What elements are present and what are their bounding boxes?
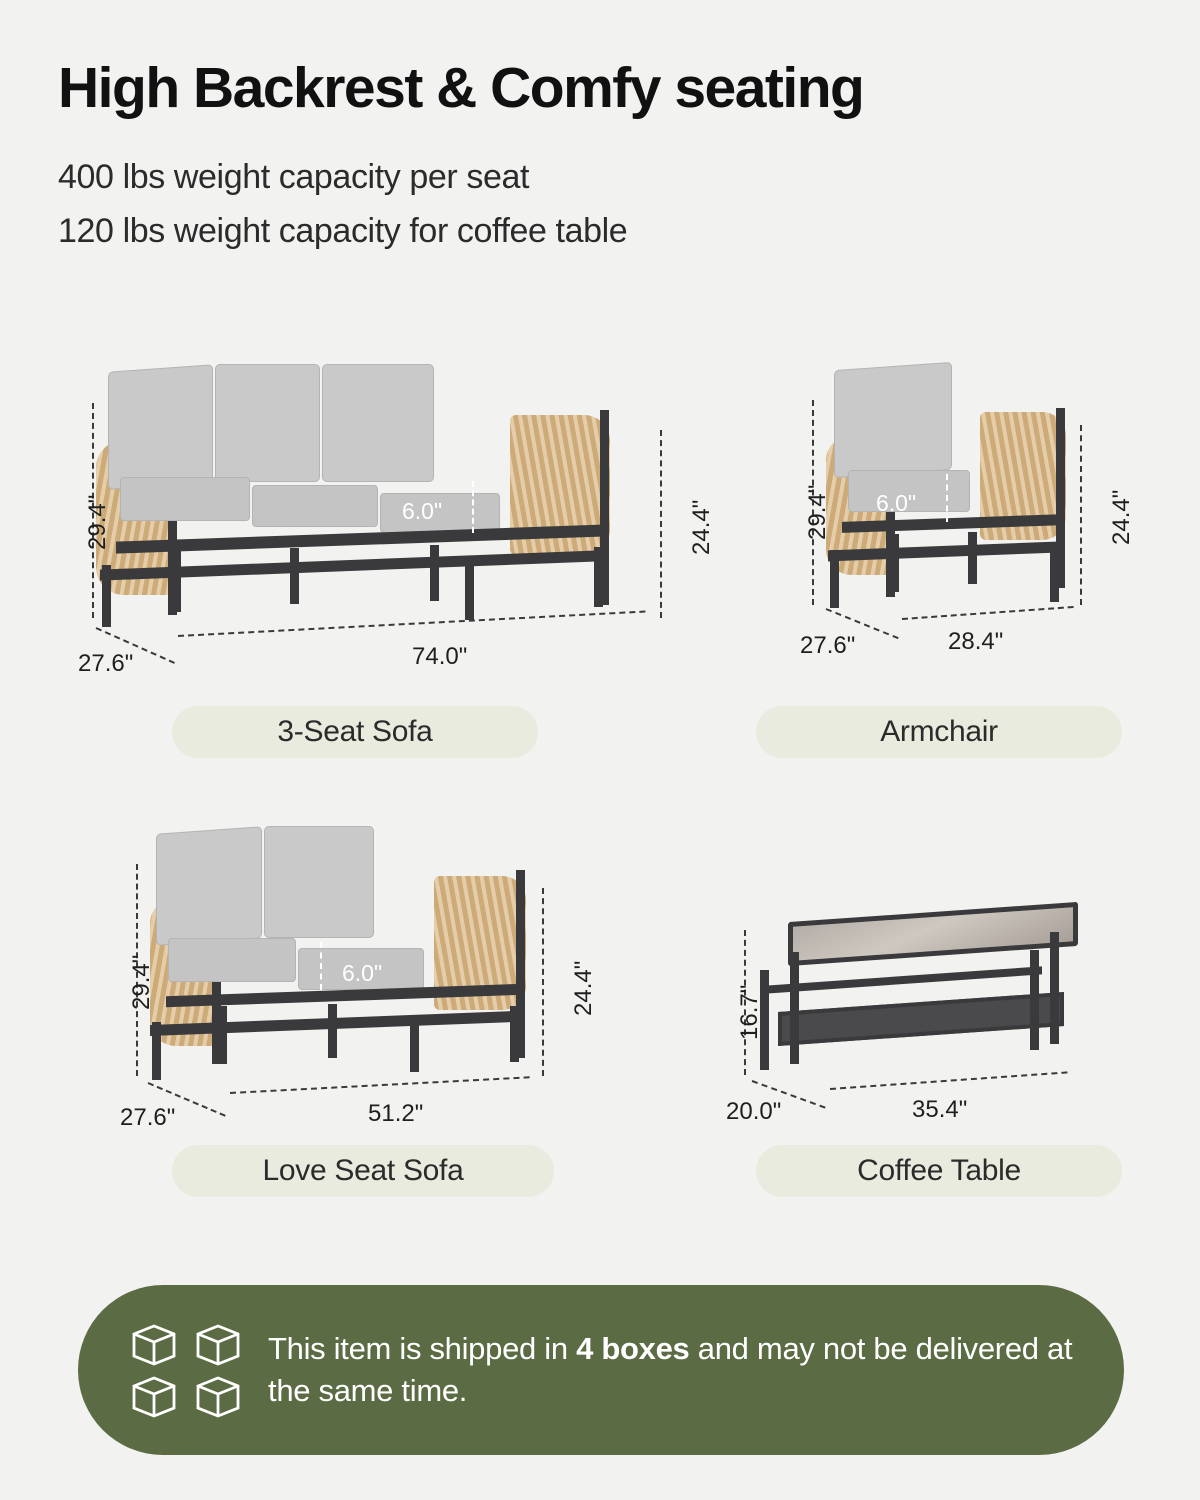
leg-6 (594, 547, 603, 607)
package-box-icon (130, 1374, 178, 1418)
shipping-banner: This item is shipped in 4 boxes and may … (78, 1285, 1124, 1455)
dim-cushion-label: 6.0" (876, 490, 916, 517)
dim-cushion-label: 6.0" (402, 498, 442, 525)
product-figure-love-seat-sofa: 29.4" 24.4" 6.0" 27.6" 51.2" (110, 820, 590, 1150)
leg-4 (410, 1016, 419, 1072)
label-love-seat-sofa: Love Seat Sofa (172, 1145, 554, 1197)
package-box-icon (194, 1374, 242, 1418)
dim-seat-height-label: 24.4" (570, 961, 598, 1016)
dim-width-label: 28.4" (948, 628, 1003, 656)
package-box-icon (194, 1322, 242, 1366)
label-3-seat-sofa: 3-Seat Sofa (172, 706, 538, 758)
label-armchair: Armchair (756, 706, 1122, 758)
leg-3 (328, 1004, 337, 1058)
dim-width-label: 74.0" (412, 643, 467, 671)
leg-1 (830, 550, 839, 608)
leg-back-right (1030, 950, 1039, 1050)
dim-depth-label: 27.6" (120, 1104, 175, 1132)
label-coffee-table-text: Coffee Table (857, 1154, 1021, 1188)
shipping-boxes-count: 4 boxes (576, 1331, 689, 1366)
dim-depth-label: 20.0" (726, 1098, 781, 1126)
dim-line-cushion (946, 474, 948, 522)
back-cushion-1 (834, 362, 952, 478)
dim-line-cushion (472, 481, 474, 533)
product-figure-coffee-table: 16.7" 20.0" 35.4" (730, 890, 1100, 1140)
seat-cushion-2 (252, 485, 378, 527)
dim-depth-label: 27.6" (78, 650, 133, 678)
back-cushion-2 (264, 826, 374, 938)
package-box-icon-group (130, 1322, 250, 1418)
dim-line-width (178, 611, 645, 637)
frame-front-rail (766, 966, 1042, 993)
dim-cushion-label: 6.0" (342, 960, 382, 987)
leg-1 (152, 1022, 161, 1080)
dim-line-width (830, 1071, 1068, 1090)
dim-line-seat-height (542, 888, 544, 1076)
dim-width-label: 35.4" (912, 1096, 967, 1124)
leg-2 (172, 550, 181, 612)
leg-2 (890, 534, 899, 592)
dim-height-label: 29.4" (128, 955, 156, 1010)
shipping-text-before: This item is shipped in (268, 1331, 576, 1366)
product-figure-armchair: 29.4" 24.4" 6.0" 27.6" 28.4" (790, 360, 1120, 690)
dim-seat-height-label: 24.4" (688, 500, 716, 555)
page-title: High Backrest & Comfy seating (58, 55, 863, 121)
dim-line-seat-height (1080, 425, 1082, 605)
leg-front-left (790, 952, 799, 1064)
seat-cushion-1 (168, 938, 296, 982)
dim-line-width (902, 606, 1074, 620)
back-cushion-1 (108, 364, 213, 489)
dim-height-label: 16.7" (736, 985, 764, 1040)
leg-4 (430, 545, 439, 601)
subtitle-weight-capacity-table: 120 lbs weight capacity for coffee table (58, 212, 627, 251)
dim-depth-label: 27.6" (800, 632, 855, 660)
leg-2 (218, 1006, 227, 1064)
shipping-text: This item is shipped in 4 boxes and may … (268, 1328, 1078, 1412)
leg-5 (465, 560, 474, 620)
leg-5 (510, 1006, 519, 1062)
dim-width-label: 51.2" (368, 1100, 423, 1128)
dim-height-label: 29.4" (84, 495, 112, 550)
label-armchair-text: Armchair (880, 715, 998, 749)
label-3-seat-sofa-text: 3-Seat Sofa (277, 715, 432, 749)
seat-cushion-1 (120, 477, 250, 521)
leg-3 (968, 532, 977, 584)
table-shelf (778, 992, 1064, 1046)
back-cushion-2 (215, 364, 320, 482)
leg-3 (290, 548, 299, 604)
label-love-seat-sofa-text: Love Seat Sofa (263, 1154, 464, 1188)
dim-seat-height-label: 24.4" (1108, 490, 1136, 545)
dim-line-seat-height (660, 430, 662, 618)
back-cushion-3 (322, 364, 434, 482)
subtitle-weight-capacity-seat: 400 lbs weight capacity per seat (58, 158, 529, 197)
package-box-icon (130, 1322, 178, 1366)
dim-height-label: 29.4" (804, 485, 832, 540)
dim-line-cushion (320, 942, 322, 990)
dim-line-width (230, 1076, 530, 1094)
back-cushion-1 (156, 826, 262, 945)
leg-4 (1050, 546, 1059, 602)
leg-1 (102, 565, 111, 627)
label-coffee-table: Coffee Table (756, 1145, 1122, 1197)
product-figure-3-seat-sofa: 29.4" 24.4" 6.0" 27.6" 74.0" (60, 355, 710, 695)
leg-front-right (1050, 932, 1059, 1044)
